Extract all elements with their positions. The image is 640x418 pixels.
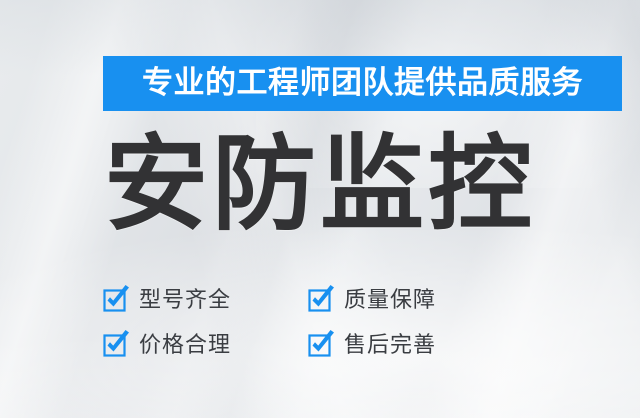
list-item-label: 质量保障 [344, 290, 436, 312]
list-item: 售后完善 [308, 323, 513, 368]
checkbox-checked-icon [103, 288, 128, 313]
list-item: 价格合理 [103, 323, 308, 368]
checkbox-checked-icon [308, 333, 333, 358]
promo-banner: 专业的工程师团队提供品质服务 安防监控 型号齐全 质量保障 [0, 0, 640, 418]
page-title: 安防监控 [0, 130, 640, 239]
list-item-label: 价格合理 [139, 335, 231, 357]
subheadline-bar: 专业的工程师团队提供品质服务 [103, 56, 622, 111]
list-item-label: 型号齐全 [139, 290, 231, 312]
feature-list: 型号齐全 质量保障 价格合理 [103, 278, 523, 368]
list-item: 型号齐全 [103, 278, 308, 323]
checkbox-checked-icon [103, 333, 128, 358]
list-item-label: 售后完善 [344, 335, 436, 357]
checkbox-checked-icon [308, 288, 333, 313]
subheadline-text: 专业的工程师团队提供品质服务 [142, 68, 583, 99]
list-item: 质量保障 [308, 278, 513, 323]
